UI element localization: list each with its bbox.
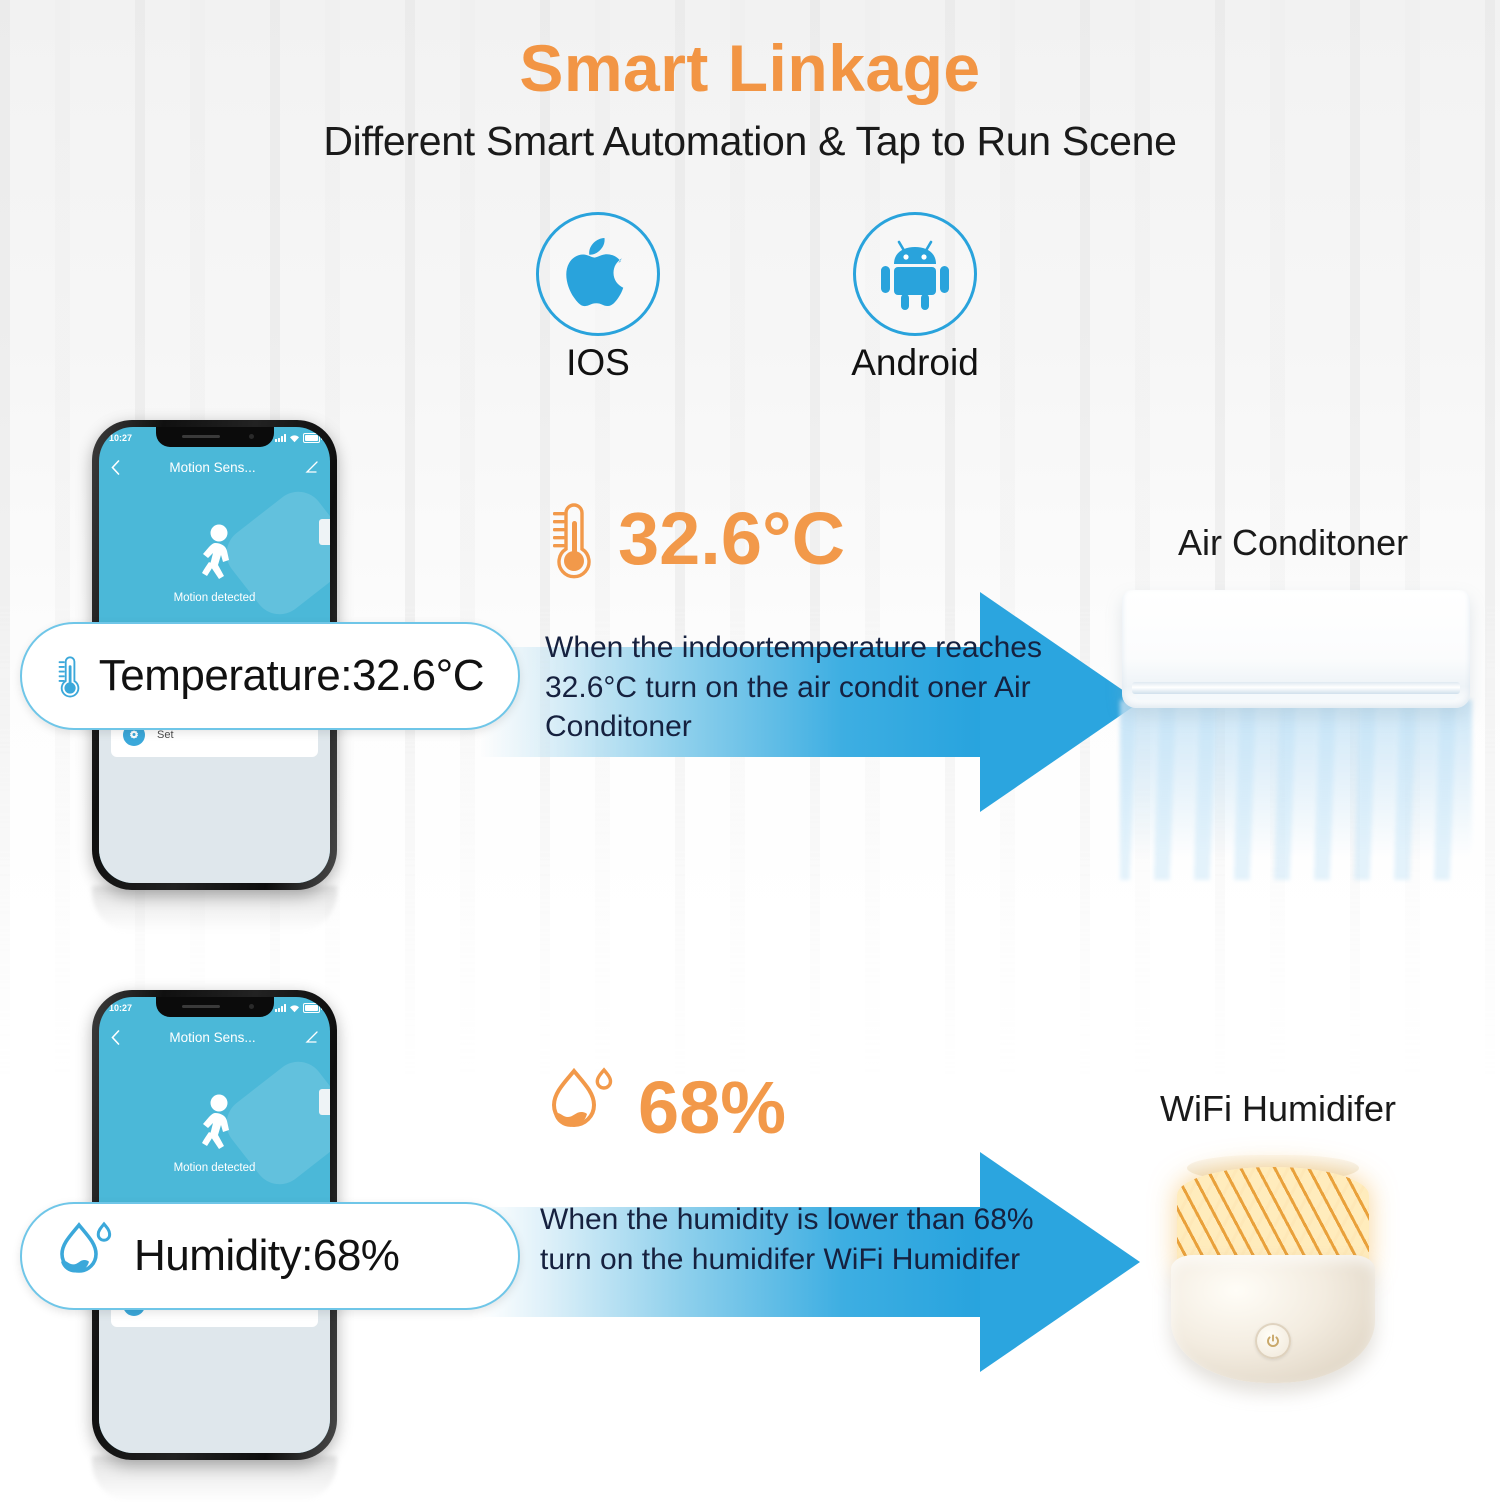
readout-humidity: 68% xyxy=(548,1065,786,1151)
status-time: 10:27 xyxy=(109,1003,132,1013)
power-button-icon[interactable] xyxy=(1255,1323,1291,1359)
motion-status-area: Motion detected xyxy=(99,1051,330,1217)
status-time: 10:27 xyxy=(109,433,132,443)
signal-icon xyxy=(275,1004,286,1012)
walking-person-icon xyxy=(192,524,238,586)
device-label-humidifier: WiFi Humidifer xyxy=(1160,1088,1396,1130)
ac-vent-lip xyxy=(1136,694,1456,700)
sensor-pill-temperature[interactable]: Temperature:32.6°C xyxy=(20,622,520,730)
readout-value-temperature: 32.6°C xyxy=(618,502,845,576)
ios-badge-circle xyxy=(536,212,660,336)
water-drop-icon xyxy=(56,1219,118,1293)
platform-label-ios: IOS xyxy=(488,342,708,384)
wifi-icon xyxy=(289,434,300,443)
list-item-label: Set xyxy=(157,729,174,741)
chevron-left-icon[interactable] xyxy=(111,1030,120,1045)
readout-temperature: 32.6°C xyxy=(548,495,845,583)
sensor-pill-label-temperature: Temperature:32.6°C xyxy=(99,651,484,701)
phone-reflection xyxy=(92,1456,337,1502)
walking-person-icon xyxy=(192,1094,238,1156)
phone-notch xyxy=(156,427,274,447)
water-drop-icon xyxy=(548,1065,620,1151)
apple-icon xyxy=(565,237,631,311)
thermometer-icon xyxy=(548,495,600,583)
automation-rule-temperature: When the indoortemperature reaches 32.6°… xyxy=(545,628,1045,747)
phone-reflection xyxy=(92,886,337,932)
sensor-pill-label-humidity: Humidity:68% xyxy=(134,1231,399,1281)
sensor-pill-humidity[interactable]: Humidity:68% xyxy=(20,1202,520,1310)
air-conditioner-icon xyxy=(1122,590,1470,708)
platform-label-android: Android xyxy=(805,342,1025,384)
humidifier-body xyxy=(1171,1255,1375,1383)
cool-air-flow xyxy=(1120,700,1472,880)
battery-icon xyxy=(303,433,320,443)
ac-vent xyxy=(1132,682,1460,694)
automation-rule-humidity: When the humidity is lower than 68% turn… xyxy=(540,1200,1040,1279)
motion-caption: Motion detected xyxy=(174,592,256,604)
signal-icon xyxy=(275,434,286,442)
phone-app-title: Motion Sens... xyxy=(169,460,255,475)
pencil-icon[interactable] xyxy=(305,1031,318,1044)
phone-app-bar: Motion Sens... xyxy=(99,1023,330,1051)
platform-badge-ios: IOS xyxy=(488,212,708,384)
humidifier-icon xyxy=(1165,1155,1380,1385)
device-label-air-conditioner: Air Conditoner xyxy=(1178,522,1408,564)
readout-value-humidity: 68% xyxy=(638,1071,786,1145)
page-subtitle: Different Smart Automation & Tap to Run … xyxy=(0,118,1500,165)
thermometer-icon xyxy=(56,640,83,712)
battery-icon xyxy=(303,1003,320,1013)
motion-caption: Motion detected xyxy=(174,1162,256,1174)
platform-badge-android: Android xyxy=(805,212,1025,384)
chevron-left-icon[interactable] xyxy=(111,460,120,475)
phone-app-title: Motion Sens... xyxy=(169,1030,255,1045)
phone-app-bar: Motion Sens... xyxy=(99,453,330,481)
phone-notch xyxy=(156,997,274,1017)
page-title: Smart Linkage xyxy=(0,30,1500,106)
wifi-icon xyxy=(289,1004,300,1013)
android-icon xyxy=(877,237,953,311)
pencil-icon[interactable] xyxy=(305,461,318,474)
android-badge-circle xyxy=(853,212,977,336)
